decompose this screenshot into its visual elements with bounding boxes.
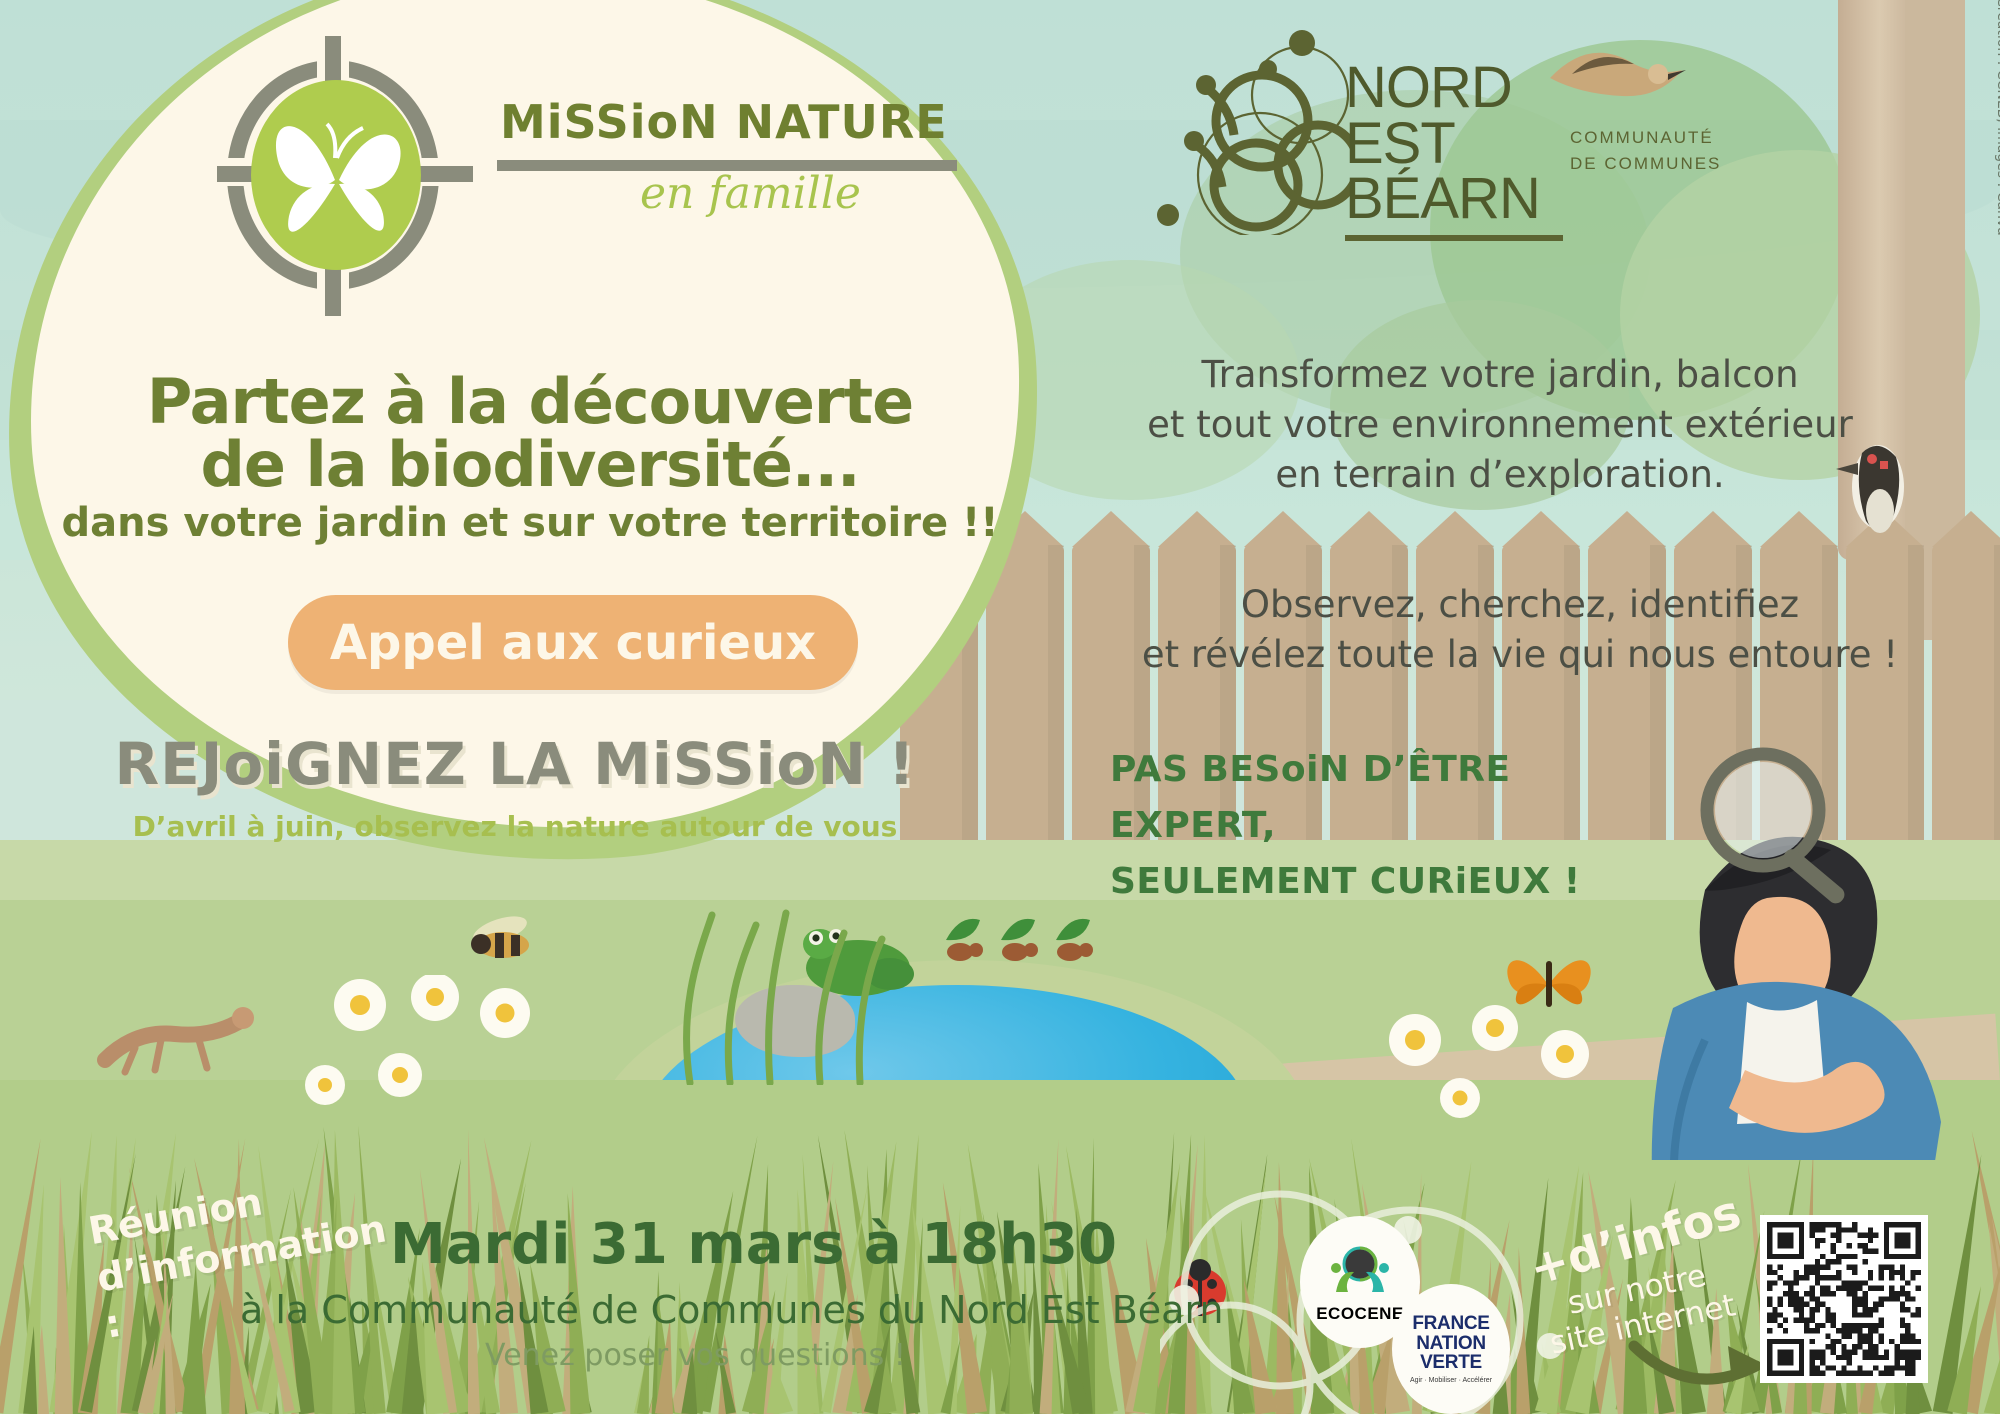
partner-tagline-line1: COMMUNAUTÉ bbox=[1570, 125, 1721, 151]
join-mission-subtitle: D’avril à juin, observez la nature autou… bbox=[0, 810, 1030, 843]
para2-line1: Observez, cherchez, identifiez bbox=[1120, 580, 1920, 630]
partner-logo-line1: NORD bbox=[1345, 60, 1563, 116]
lizard-icon bbox=[95, 1000, 255, 1085]
fnv-line1: FRANCE bbox=[1412, 1314, 1489, 1333]
expert-line1: PAS BESoiN D’ÊTRE EXPERT, bbox=[1110, 742, 1670, 854]
mission-nature-logo bbox=[195, 18, 495, 298]
cta-label: Appel aux curieux bbox=[330, 615, 816, 671]
grass-blade bbox=[51, 1177, 72, 1414]
france-nation-verte-logo: FRANCE NATION VERTE Agir · Mobiliser · A… bbox=[1392, 1284, 1510, 1414]
appel-aux-curieux-button[interactable]: Appel aux curieux bbox=[288, 595, 858, 690]
subheadline: dans votre jardin et sur votre territoir… bbox=[0, 500, 1060, 546]
partner-logo-line3: BÉARN bbox=[1345, 171, 1563, 227]
para1-line1: Transformez votre jardin, balcon bbox=[1120, 350, 1880, 400]
butterfly-icon bbox=[257, 106, 417, 256]
event-date: Mardi 31 mars à 18h30 bbox=[390, 1212, 1117, 1277]
poster-canvas: MiSSioN NATURE en famille Partez à la dé… bbox=[0, 0, 2000, 1414]
para1-line3: en terrain d’exploration. bbox=[1120, 450, 1880, 500]
para2-line2: et révélez toute la vie qui nous entoure… bbox=[1120, 630, 1920, 680]
print-note: IPNS - Ne pas jeter sur la voie publique… bbox=[1994, 0, 2000, 230]
ants-icon bbox=[930, 900, 1130, 980]
daisy-flowers bbox=[305, 975, 585, 1115]
qr-code[interactable] bbox=[1760, 1215, 1928, 1383]
para1-line2: et tout votre environnement extérieur bbox=[1120, 400, 1880, 450]
arrow-icon bbox=[1628, 1330, 1778, 1400]
headline-line-2: de la biodiversité... bbox=[0, 433, 1060, 496]
reeds bbox=[660, 855, 920, 1085]
partner-logo-tagline: COMMUNAUTÉ DE COMMUNES bbox=[1570, 125, 1721, 176]
ecocene-mark bbox=[1320, 1240, 1400, 1302]
ecocene-label: ECOCENE bbox=[1316, 1304, 1404, 1324]
partner-logo-line2: EST bbox=[1345, 116, 1563, 172]
ccneb-logo-mark bbox=[1150, 25, 1350, 235]
expert-line2: SEULEMENT CURiEUX ! bbox=[1110, 854, 1670, 910]
fnv-line2: NATION bbox=[1416, 1334, 1486, 1353]
fnv-line3: VERTE bbox=[1420, 1353, 1482, 1372]
expert-callout: PAS BESoiN D’ÊTRE EXPERT, SEULEMENT CURi… bbox=[1110, 742, 1670, 909]
partner-logo-rule bbox=[1345, 235, 1563, 241]
event-invite-note: Venez poser vos questions ! bbox=[485, 1338, 906, 1373]
join-mission-title: REJoiGNEZ LA MiSSioN ! bbox=[0, 730, 1030, 798]
right-paragraph-2: Observez, cherchez, identifiez et révéle… bbox=[1120, 580, 1920, 680]
right-paragraph-1: Transformez votre jardin, balcon et tout… bbox=[1120, 350, 1880, 500]
fnv-tagline: Agir · Mobiliser · Accélérer bbox=[1410, 1377, 1492, 1384]
partner-tagline-line2: DE COMMUNES bbox=[1570, 151, 1721, 177]
headline-line-1: Partez à la découverte bbox=[0, 370, 1060, 433]
logo-title: MiSSioN NATURE bbox=[500, 95, 948, 149]
headline: Partez à la découverte de la biodiversit… bbox=[0, 370, 1060, 496]
more-info-callout: +d’infos sur notre site internet bbox=[1520, 1208, 1780, 1338]
bee-icon bbox=[455, 900, 545, 970]
logo-subtitle: en famille bbox=[640, 168, 861, 219]
partner-logo: NORD EST BÉARN bbox=[1345, 60, 1563, 241]
event-place: à la Communauté de Communes du Nord Est … bbox=[240, 1288, 1224, 1332]
